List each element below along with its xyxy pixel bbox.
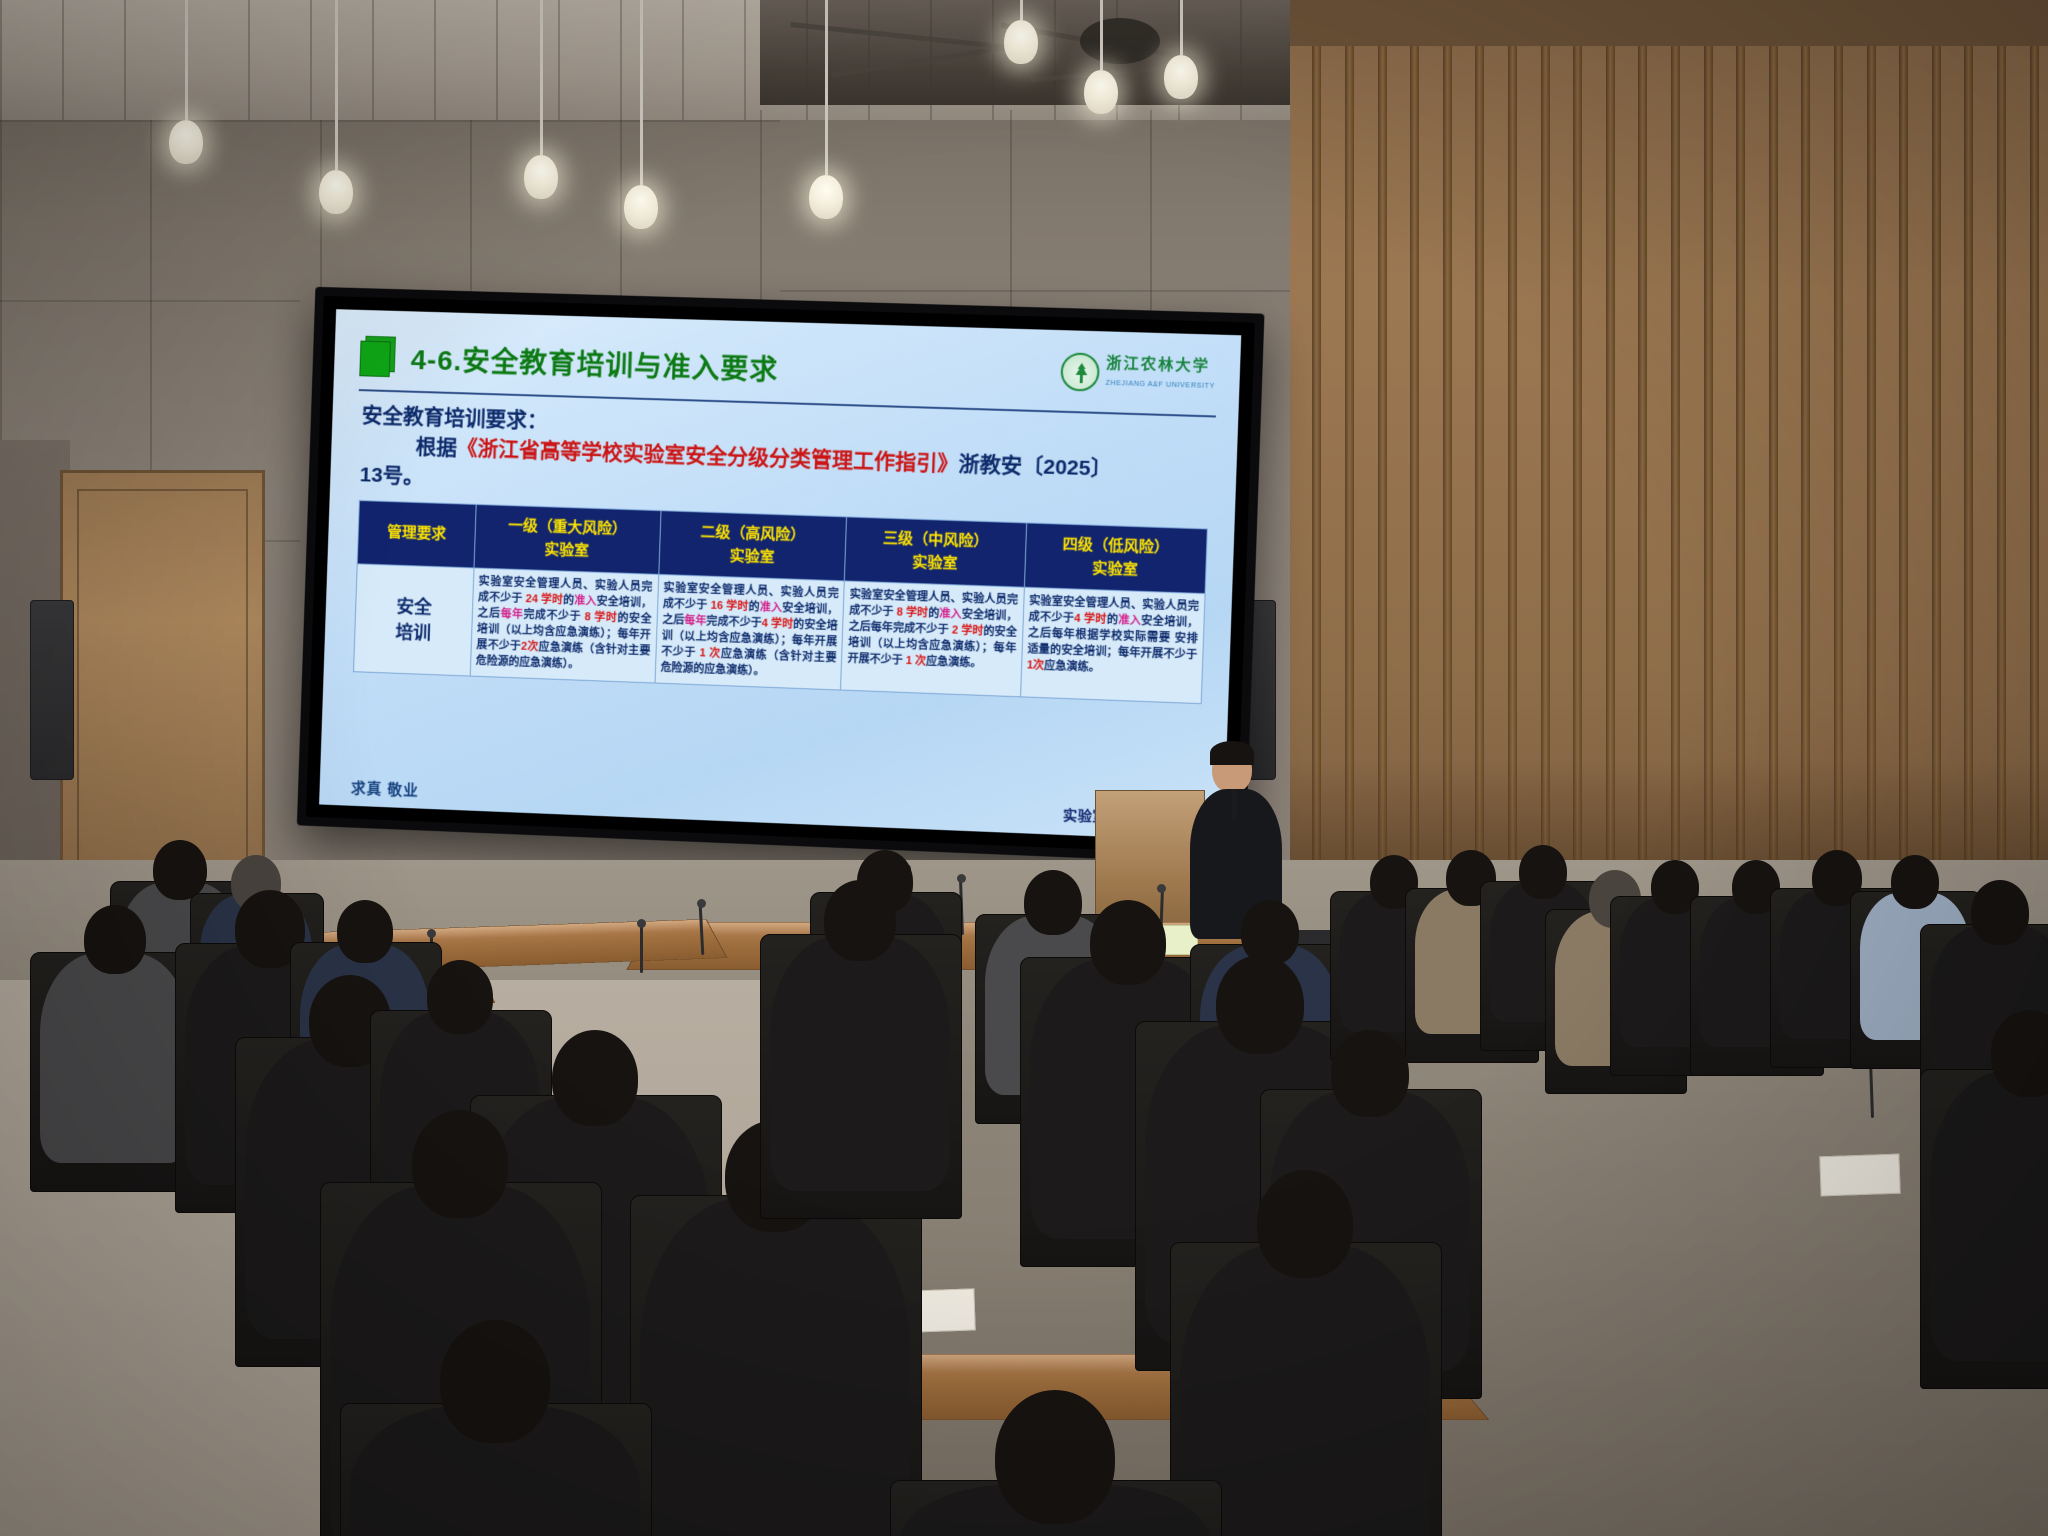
microphone-head (1157, 884, 1166, 893)
table-header-cell-4: 四级（低风险）实验室 (1024, 523, 1207, 594)
green-book-icon (359, 336, 398, 379)
wall-panel-seam (760, 110, 762, 310)
person-head (337, 900, 393, 963)
pendant-wire (1020, 0, 1023, 20)
ceiling-slat (248, 0, 250, 120)
person-head (1216, 955, 1304, 1054)
pendant-light-bulb (624, 185, 658, 229)
requirements-table: 管理要求一级（重大风险）实验室二级（高风险）实验室三级（中风险）实验室四级（低风… (353, 500, 1208, 704)
conference-room-photo: 4-6.安全教育培训与准入要求 浙江农林大学 ZHEJIANG A&F UNIV… (0, 0, 2048, 1536)
pendant-light-bulb (169, 120, 203, 164)
wall-speaker-left (30, 600, 74, 780)
pendant-light-bulb (1004, 20, 1038, 64)
ceiling-vent (1080, 18, 1160, 64)
table-row-label: 安全培训 (354, 564, 474, 676)
slide-title: 4-6.安全教育培训与准入要求 (410, 338, 779, 389)
pendant-wire (1100, 0, 1103, 70)
logo-name-en: ZHEJIANG A&F UNIVERSITY (1105, 380, 1215, 390)
logo-name-cn: 浙江农林大学 (1106, 355, 1210, 375)
table-cell-1: 实验室安全管理人员、实验人员完成不少于 16 学时的准入安全培训，之后每年完成不… (655, 574, 845, 689)
body-line-2-suffix: 浙教安〔2025〕 (958, 453, 1112, 481)
ceiling-slat (992, 0, 994, 120)
person-head (824, 880, 896, 961)
pendant-wire (825, 0, 828, 175)
ceiling-slat (434, 0, 436, 120)
university-emblem-icon (1061, 352, 1101, 391)
body-line-2-prefix: 根据 (415, 435, 457, 459)
slide-canvas: 4-6.安全教育培训与准入要求 浙江农林大学 ZHEJIANG A&F UNIV… (319, 309, 1241, 841)
person-head (1331, 1030, 1409, 1117)
ceiling-slat (806, 0, 808, 120)
presentation-screen[interactable]: 4-6.安全教育培训与准入要求 浙江农林大学 ZHEJIANG A&F UNIV… (297, 287, 1265, 865)
ceiling-slat (1054, 0, 1056, 120)
table-header-cell-3: 三级（中风险）实验室 (845, 517, 1027, 587)
pendant-light-bulb (319, 170, 353, 214)
ceiling-slat (62, 0, 64, 120)
microphone-head (697, 899, 706, 908)
ceiling-slat (558, 0, 560, 120)
ceiling-slat (744, 0, 746, 120)
pendant-light-bulb (1084, 70, 1118, 114)
screen-bezel: 4-6.安全教育培训与准入要求 浙江农林大学 ZHEJIANG A&F UNIV… (306, 296, 1255, 855)
ceiling-slat (372, 0, 374, 120)
slide-footer-left: 求真 敬业 (351, 777, 419, 801)
ceiling-slat (0, 0, 2, 120)
person-head (1971, 880, 2029, 945)
person-torso (40, 953, 190, 1163)
pendant-light-bulb (524, 155, 558, 199)
pendant-wire (335, 0, 338, 170)
person-head (440, 1320, 550, 1443)
paper-sheet (1819, 1154, 1900, 1197)
slide-body-text: 安全教育培训要求： 根据《浙江省高等学校实验室安全分级分类管理工作指引》浙教安〔… (359, 401, 1213, 518)
door-inner-frame (77, 489, 248, 881)
ceiling-slat (1240, 0, 1242, 120)
wall-panel-seam-h (0, 120, 780, 122)
person-head (84, 905, 146, 974)
table-header-cell-1: 一级（重大风险）实验室 (474, 504, 661, 574)
ceiling-slat (868, 0, 870, 120)
person-head (153, 840, 207, 900)
side-door[interactable] (60, 470, 265, 900)
pendant-wire (540, 0, 543, 155)
ceiling-slat (682, 0, 684, 120)
person-head (412, 1110, 508, 1218)
person-head (1257, 1170, 1353, 1278)
person-head (1891, 855, 1939, 909)
person-head (1519, 845, 1567, 899)
microphone-head (957, 874, 966, 883)
ceiling-slat (310, 0, 312, 120)
wall-panel-seam-h (0, 300, 300, 302)
person-torso (770, 936, 950, 1191)
person-torso (1930, 1071, 2048, 1361)
table-cell-3: 实验室安全管理人员、实验人员完成不少于4 学时的准入安全培训，之后每年根据学校实… (1020, 587, 1205, 703)
person-head (1024, 870, 1082, 935)
pendant-wire (185, 0, 188, 120)
person-head (1090, 900, 1166, 985)
pendant-wire (1180, 0, 1183, 55)
person-torso (640, 1198, 910, 1536)
table-microphone (640, 925, 643, 973)
ceiling-slat (496, 0, 498, 120)
table-header-cell-2: 二级（高风险）实验室 (658, 511, 847, 581)
table-header-cell-0: 管理要求 (357, 501, 476, 568)
microphone-head (637, 919, 646, 928)
university-logo: 浙江农林大学 ZHEJIANG A&F UNIVERSITY (1061, 352, 1216, 395)
ceiling-slat (620, 0, 622, 120)
person-head (427, 960, 493, 1034)
pendant-light-bulb (1164, 55, 1198, 99)
pendant-light-bulb (809, 175, 843, 219)
ceiling-slat (124, 0, 126, 120)
person-head (995, 1390, 1115, 1524)
ceiling-recess (760, 0, 1320, 105)
wall-panel-seam-h (780, 290, 1300, 292)
wood-wall-header (1290, 0, 2048, 46)
table-cell-0: 实验室安全管理人员、实验人员完成不少于 24 学时的准入安全培训，之后每年完成不… (470, 568, 658, 683)
person-head (552, 1030, 638, 1126)
table-cell-2: 实验室安全管理人员、实验人员完成不少于 8 学时的准入安全培训，之后每年完成不少… (841, 581, 1024, 696)
presenter-hair (1210, 741, 1254, 765)
presenter-microphone (1232, 789, 1237, 819)
microphone-head (427, 929, 436, 938)
pendant-wire (640, 0, 643, 185)
